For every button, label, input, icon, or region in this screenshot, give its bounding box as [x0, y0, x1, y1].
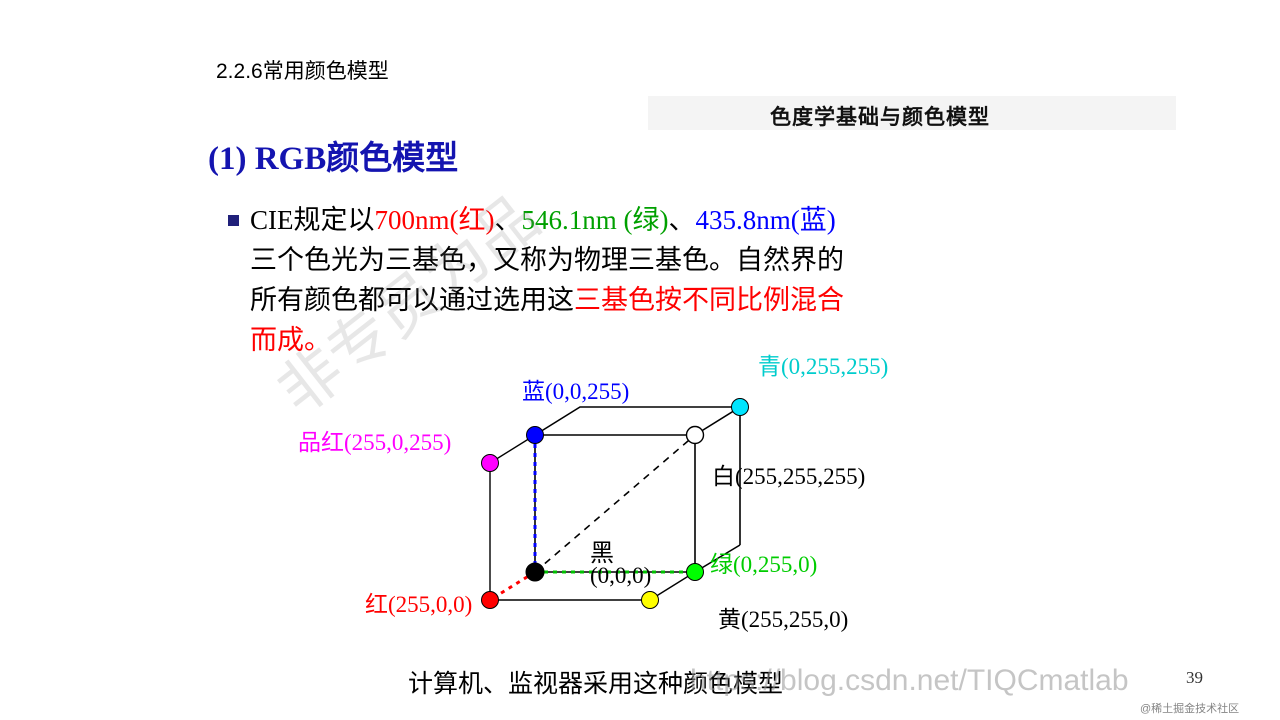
label-black-value: (0,0,0) — [590, 563, 651, 589]
body-line4-red: 而成。 — [250, 325, 331, 355]
section-label: 2.2.6常用颜色模型 — [216, 55, 389, 85]
vertex-magenta — [482, 455, 499, 472]
label-green: 绿(0,255,0) — [710, 545, 817, 579]
body-line2: 三个色光为三基色，又称为物理三基色。自然界的 — [250, 245, 844, 275]
body-line3-pre: 所有颜色都可以通过选用这 — [250, 285, 574, 315]
body-line1-pre: CIE规定以 — [250, 205, 375, 235]
vertex-red — [482, 592, 499, 609]
page-number: 39 — [1186, 668, 1203, 688]
header-banner-text: 色度学基础与颜色模型 — [770, 101, 990, 131]
label-blue: 蓝(0,0,255) — [522, 372, 629, 406]
body-line1-sep2: 、 — [668, 205, 695, 235]
label-magenta: 品红(255,0,255) — [298, 423, 451, 457]
body-line1-green: 546.1nm (绿) — [521, 205, 668, 235]
vertex-white — [687, 427, 704, 444]
slide-canvas: 2.2.6常用颜色模型 色度学基础与颜色模型 (1) RGB颜色模型 CIE规定… — [0, 0, 1280, 720]
corner-watermark: @稀土掘金技术社区 — [1140, 700, 1239, 716]
vertex-black — [526, 563, 544, 581]
page-title: (1) RGB颜色模型 — [208, 131, 458, 179]
body-line3-red: 三基色按不同比例混合 — [574, 285, 844, 315]
label-cyan: 青(0,255,255) — [758, 347, 888, 381]
rgb-cube-diagram: 蓝(0,0,255) 青(0,255,255) 品红(255,0,255) 白(… — [280, 365, 1000, 655]
body-line1-blue: 435.8nm(蓝) — [695, 205, 835, 235]
body-line1-sep1: 、 — [494, 205, 521, 235]
bullet-square-icon — [228, 215, 239, 226]
bottom-caption: 计算机、监视器采用这种颜色模型 — [408, 664, 783, 700]
body-line1-red: 700nm(红) — [375, 205, 495, 235]
body-paragraph: CIE规定以700nm(红)、546.1nm (绿)、435.8nm(蓝) 三个… — [250, 200, 1090, 360]
label-yellow: 黄(255,255,0) — [718, 600, 848, 634]
vertex-yellow — [642, 592, 659, 609]
label-red: 红(255,0,0) — [365, 585, 472, 619]
vertex-blue — [527, 427, 544, 444]
vertex-cyan — [732, 399, 749, 416]
vertex-green — [687, 564, 704, 581]
gray-axis-dashed — [535, 435, 695, 572]
label-white: 白(255,255,255) — [712, 457, 865, 491]
